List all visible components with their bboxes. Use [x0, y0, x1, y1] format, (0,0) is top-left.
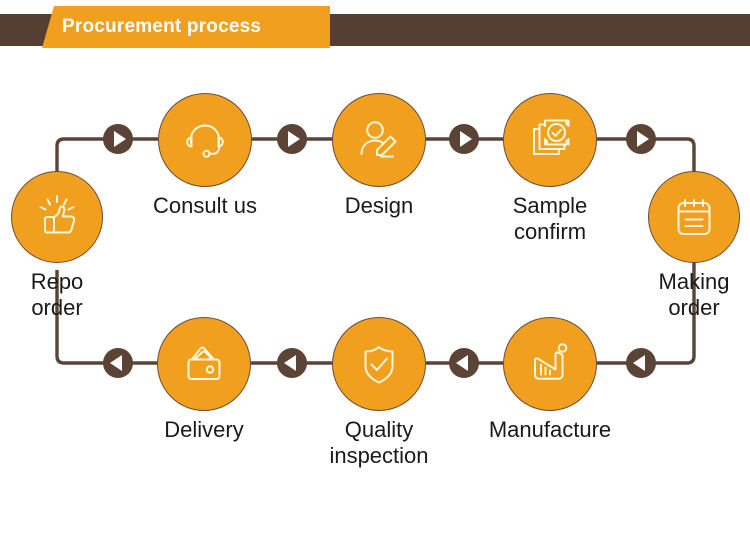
flow-arrow-consult-to-design — [277, 124, 307, 154]
arrow-right-icon — [288, 131, 300, 147]
step-label-design: Design — [299, 193, 459, 219]
step-label-sample-confirm: Sample confirm — [460, 193, 640, 245]
step-circle-consult-us[interactable] — [158, 93, 252, 187]
flow-arrow-sample-to-making — [626, 124, 656, 154]
arrow-left-icon — [633, 355, 645, 371]
flow-arrow-design-to-sample — [449, 124, 479, 154]
step-circle-design[interactable] — [332, 93, 426, 187]
shield-check-icon — [354, 339, 404, 389]
arrow-left-icon — [110, 355, 122, 371]
step-circle-manufacture[interactable] — [503, 317, 597, 411]
step-circle-sample-confirm[interactable] — [503, 93, 597, 187]
flow-arrow-making-to-manufacture — [626, 348, 656, 378]
step-label-quality-inspection: Quality inspection — [279, 417, 479, 469]
step-circle-delivery[interactable] — [157, 317, 251, 411]
flow-arrow-quality-to-delivery — [277, 348, 307, 378]
flow-arrow-repo-to-consult — [103, 124, 133, 154]
notepad-icon — [669, 192, 719, 242]
arrow-left-icon — [456, 355, 468, 371]
arrow-right-icon — [637, 131, 649, 147]
step-label-delivery: Delivery — [114, 417, 294, 443]
step-label-consult-us: Consult us — [115, 193, 295, 219]
step-circle-making-order[interactable] — [648, 171, 740, 263]
factory-icon — [524, 338, 576, 390]
headset-icon — [180, 115, 230, 165]
flow-arrow-manufacture-to-quality — [449, 348, 479, 378]
step-label-repo-order: Repo order — [0, 269, 127, 321]
wallet-icon — [178, 338, 230, 390]
documents-check-icon — [525, 115, 575, 165]
step-label-making-order: Making order — [614, 269, 750, 321]
arrow-right-icon — [460, 131, 472, 147]
procurement-process-diagram: Repo order Consult us Design — [0, 0, 750, 558]
person-pencil-icon — [353, 114, 405, 166]
arrow-left-icon — [284, 355, 296, 371]
step-circle-quality-inspection[interactable] — [332, 317, 426, 411]
step-label-manufacture: Manufacture — [450, 417, 650, 443]
step-circle-repo-order[interactable] — [11, 171, 103, 263]
flow-arrow-delivery-to-repo — [103, 348, 133, 378]
thumbs-up-icon — [32, 192, 82, 242]
arrow-right-icon — [114, 131, 126, 147]
